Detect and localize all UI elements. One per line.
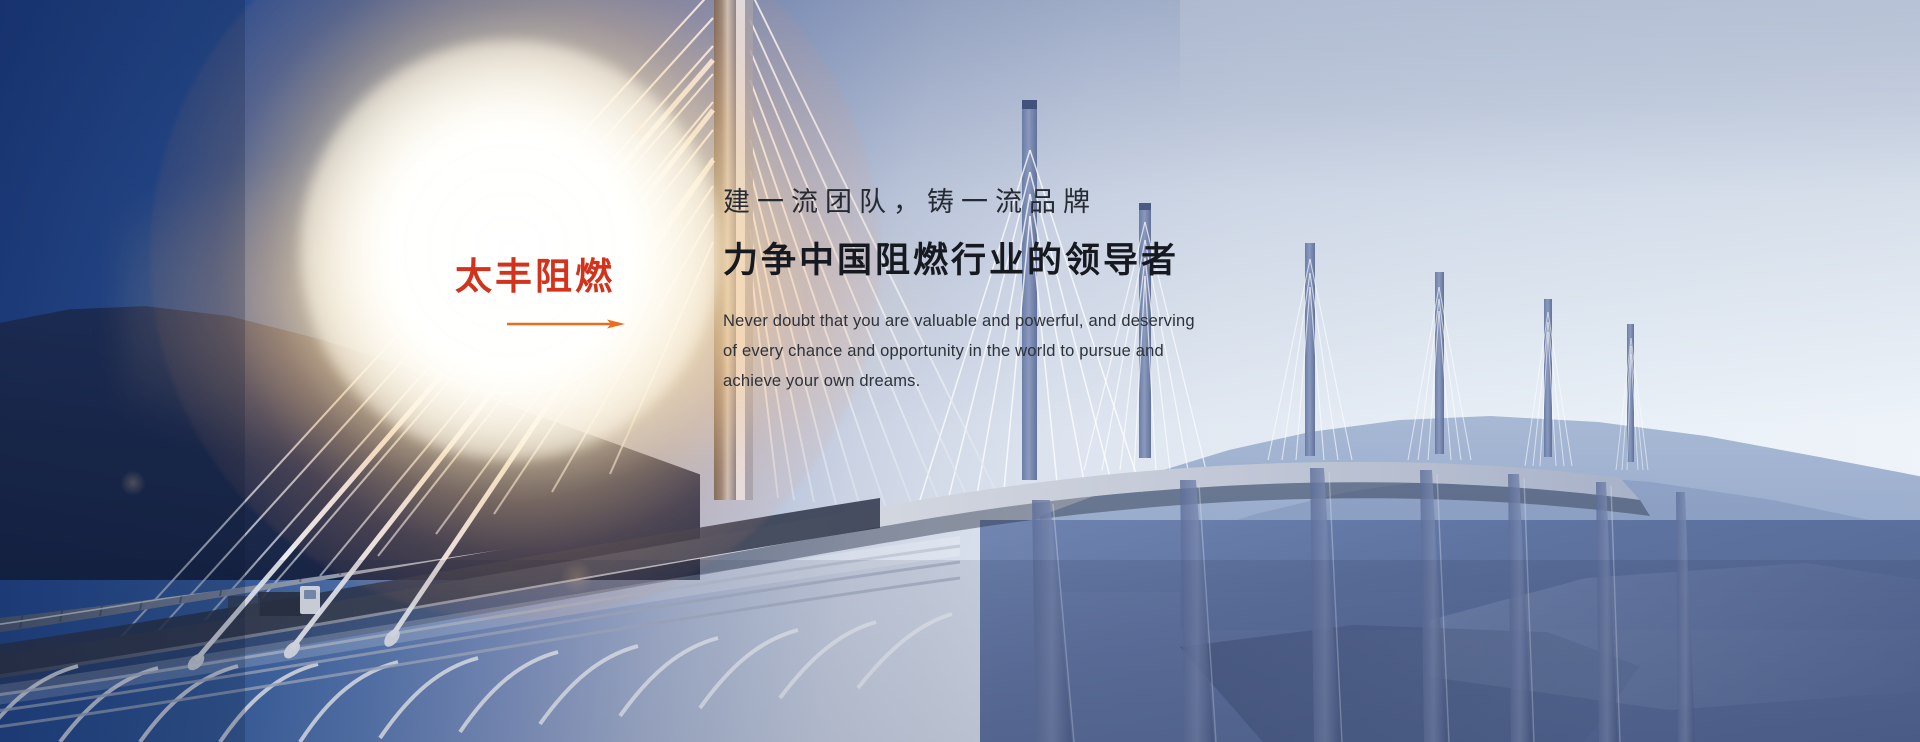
- banner-content: 太丰阻燃 建一流团队，铸一流品牌 力争中国阻燃行业的领导者 Never doub…: [0, 0, 1920, 742]
- banner-subheading: 建一流团队，铸一流品牌: [723, 186, 1423, 220]
- hero-banner: 太丰阻燃 建一流团队，铸一流品牌 力争中国阻燃行业的领导者 Never doub…: [0, 0, 1920, 742]
- banner-description-line-3: achieve your own dreams.: [723, 366, 1283, 396]
- right-arrow-icon: [507, 318, 627, 330]
- banner-description-line-2: of every chance and opportunity in the w…: [723, 336, 1283, 366]
- banner-copy: 建一流团队，铸一流品牌 力争中国阻燃行业的领导者 Never doubt tha…: [723, 186, 1423, 396]
- brand-logo: 太丰阻燃: [455, 258, 655, 330]
- banner-description: Never doubt that you are valuable and po…: [723, 306, 1283, 396]
- brand-logo-text: 太丰阻燃: [455, 258, 655, 295]
- banner-main-heading: 力争中国阻燃行业的领导者: [723, 240, 1423, 284]
- banner-description-line-1: Never doubt that you are valuable and po…: [723, 306, 1283, 336]
